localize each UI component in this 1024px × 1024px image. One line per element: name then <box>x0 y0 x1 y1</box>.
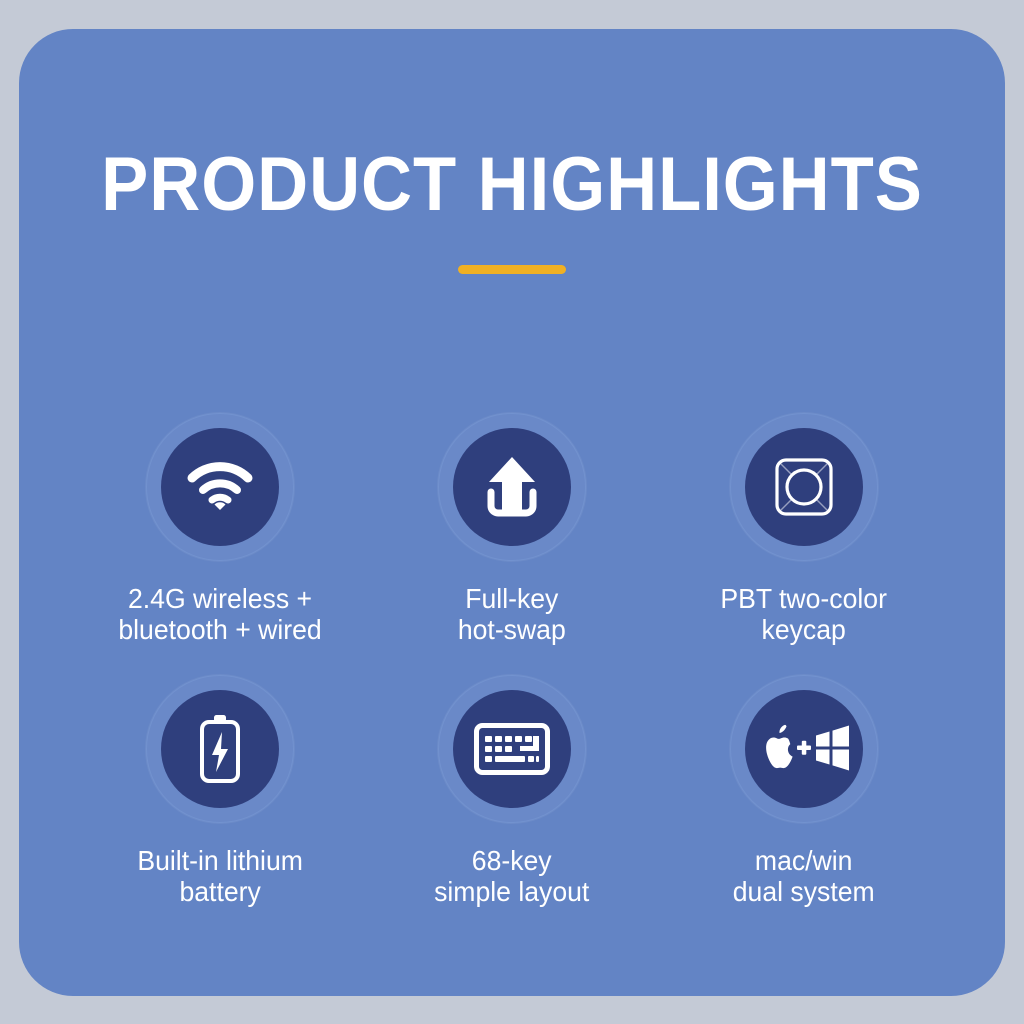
header: PRODUCT HIGHLIGHTS <box>19 147 1005 279</box>
feature-caption: PBT two-color keycap <box>721 583 888 646</box>
highlights-card: PRODUCT HIGHLIGHTS <box>19 29 1005 996</box>
icon-disc <box>453 690 571 808</box>
icon-ring <box>438 675 586 823</box>
wifi-icon <box>187 462 253 512</box>
icon-ring <box>146 413 294 561</box>
battery-charging-icon <box>197 714 243 784</box>
icon-ring <box>730 413 878 561</box>
accent-divider <box>458 265 566 274</box>
divider-wrap <box>19 261 1005 279</box>
feature-item-keycap[interactable]: PBT two-color keycap <box>658 413 950 675</box>
feature-item-wireless[interactable]: 2.4G wireless + bluetooth + wired <box>74 413 366 675</box>
icon-ring <box>438 413 586 561</box>
feature-caption: mac/win dual system <box>733 845 875 908</box>
feature-caption: Full-key hot-swap <box>458 583 566 646</box>
feature-caption: 2.4G wireless + bluetooth + wired <box>118 583 321 646</box>
icon-disc <box>745 428 863 546</box>
plus-sign <box>797 741 811 755</box>
feature-item-hot-swap[interactable]: Full-key hot-swap <box>366 413 658 675</box>
feature-item-keyboard[interactable]: 68-key simple layout <box>366 675 658 937</box>
feature-item-battery[interactable]: Built-in lithium battery <box>74 675 366 937</box>
icon-ring <box>730 675 878 823</box>
hot-swap-upload-icon <box>481 454 543 520</box>
product-highlights-page: PRODUCT HIGHLIGHTS <box>0 0 1024 1024</box>
page-title: PRODUCT HIGHLIGHTS <box>54 147 971 223</box>
mac-windows-icon <box>758 724 850 774</box>
feature-caption: 68-key simple layout <box>434 845 589 908</box>
features-grid: 2.4G wireless + bluetooth + wired Full-k <box>74 413 950 937</box>
keycap-icon <box>773 456 835 518</box>
windows-logo <box>816 726 849 771</box>
icon-disc <box>161 428 279 546</box>
feature-caption: Built-in lithium battery <box>137 845 303 908</box>
icon-disc <box>745 690 863 808</box>
icon-disc <box>161 690 279 808</box>
icon-ring <box>146 675 294 823</box>
apple-logo <box>766 725 792 768</box>
icon-disc <box>453 428 571 546</box>
feature-item-dual-system[interactable]: mac/win dual system <box>658 675 950 937</box>
keyboard-icon <box>474 723 550 775</box>
